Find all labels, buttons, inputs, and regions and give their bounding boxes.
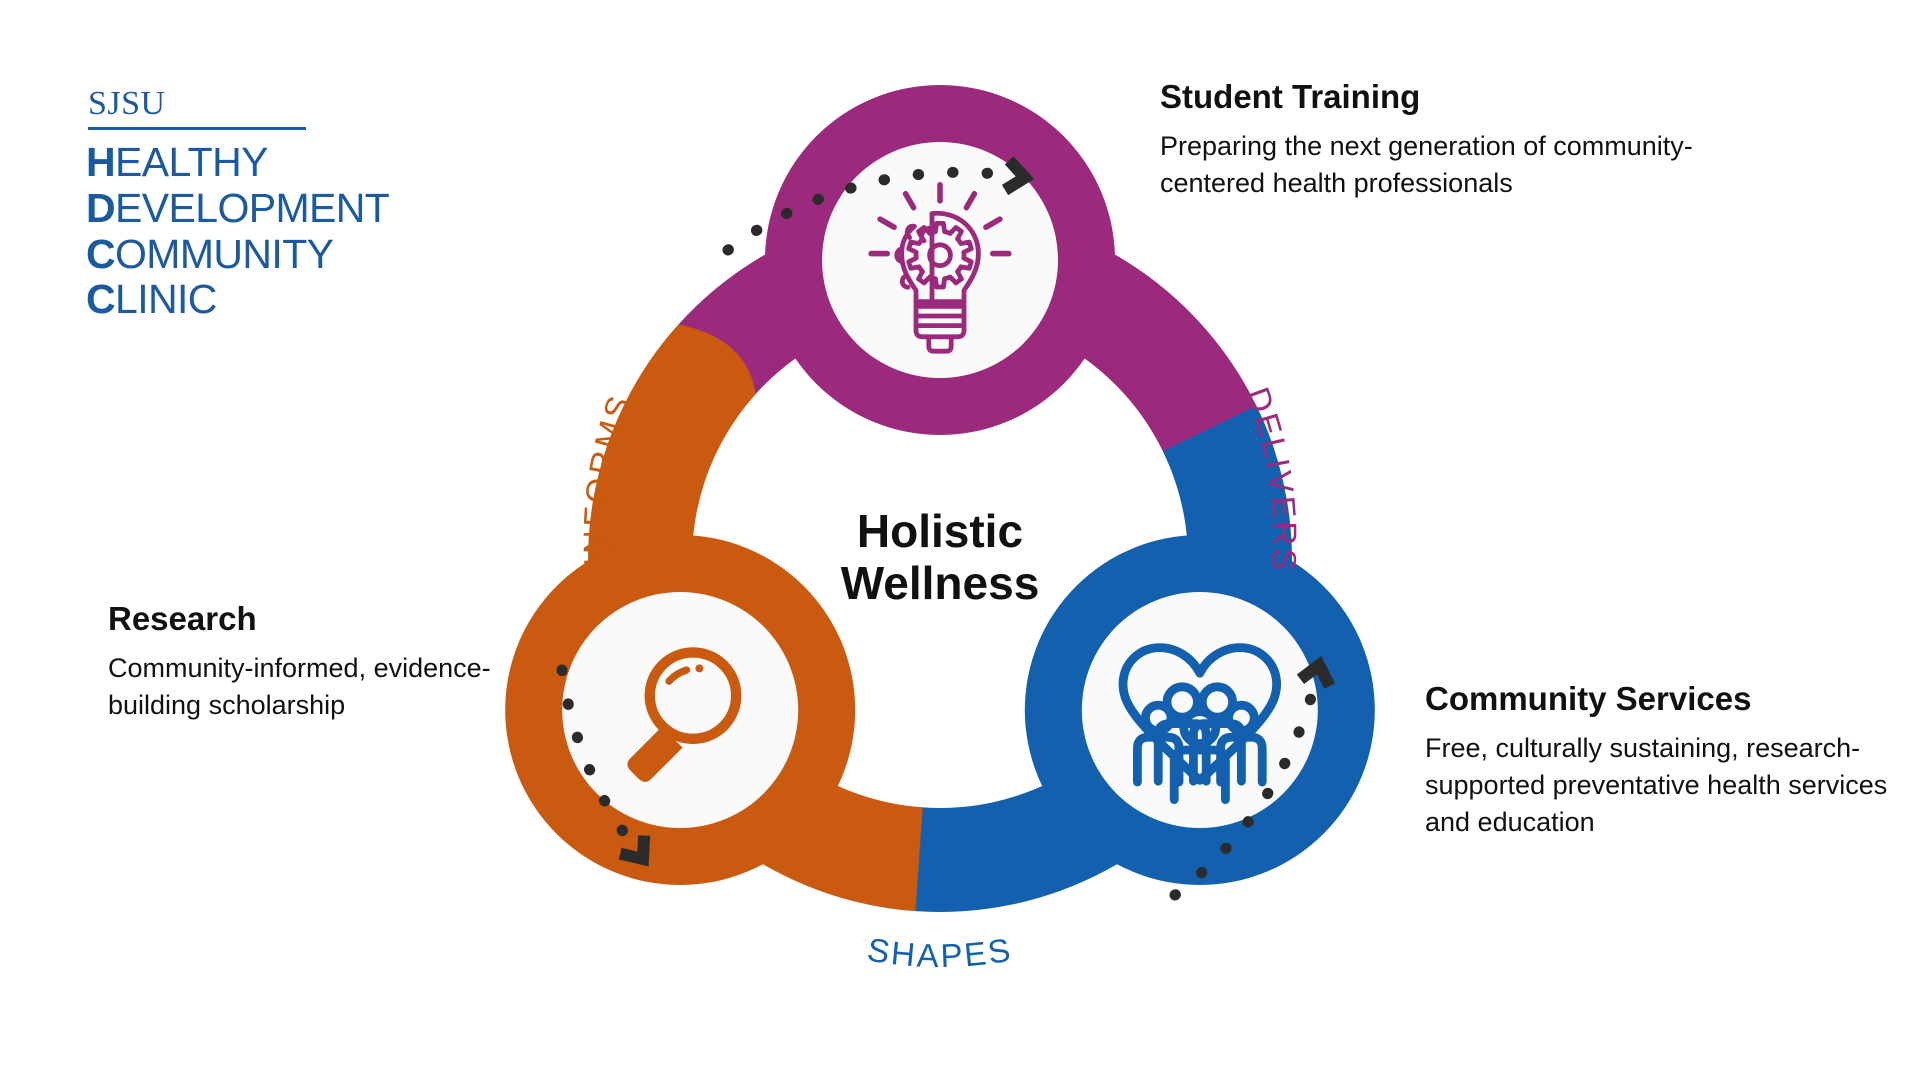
- holistic-wellness-cycle-diagram: INFORMS DELIVERS SHAPES: [440, 60, 1440, 1060]
- logo-rest-development: EVELOPMENT: [115, 185, 389, 231]
- logo-cap-d: D: [86, 185, 115, 231]
- connector-label-shapes: SHAPES: [865, 930, 1015, 974]
- logo-cap-c2: C: [86, 276, 115, 322]
- icon-circle-research: [562, 592, 798, 828]
- logo-rest-clinic: LINIC: [115, 276, 217, 322]
- callout-title-community-services: Community Services: [1425, 680, 1895, 718]
- logo-rest-community: OMMUNITY: [115, 231, 333, 277]
- logo-divider-rule: [88, 127, 306, 130]
- logo-cap-c1: C: [86, 231, 115, 277]
- logo-rest-healthy: EALTHY: [115, 139, 268, 185]
- callout-body-community-services: Free, culturally sustaining, research-su…: [1425, 730, 1895, 842]
- logo-cap-h: H: [86, 139, 115, 185]
- callout-community-services: Community Services Free, culturally sust…: [1425, 680, 1895, 842]
